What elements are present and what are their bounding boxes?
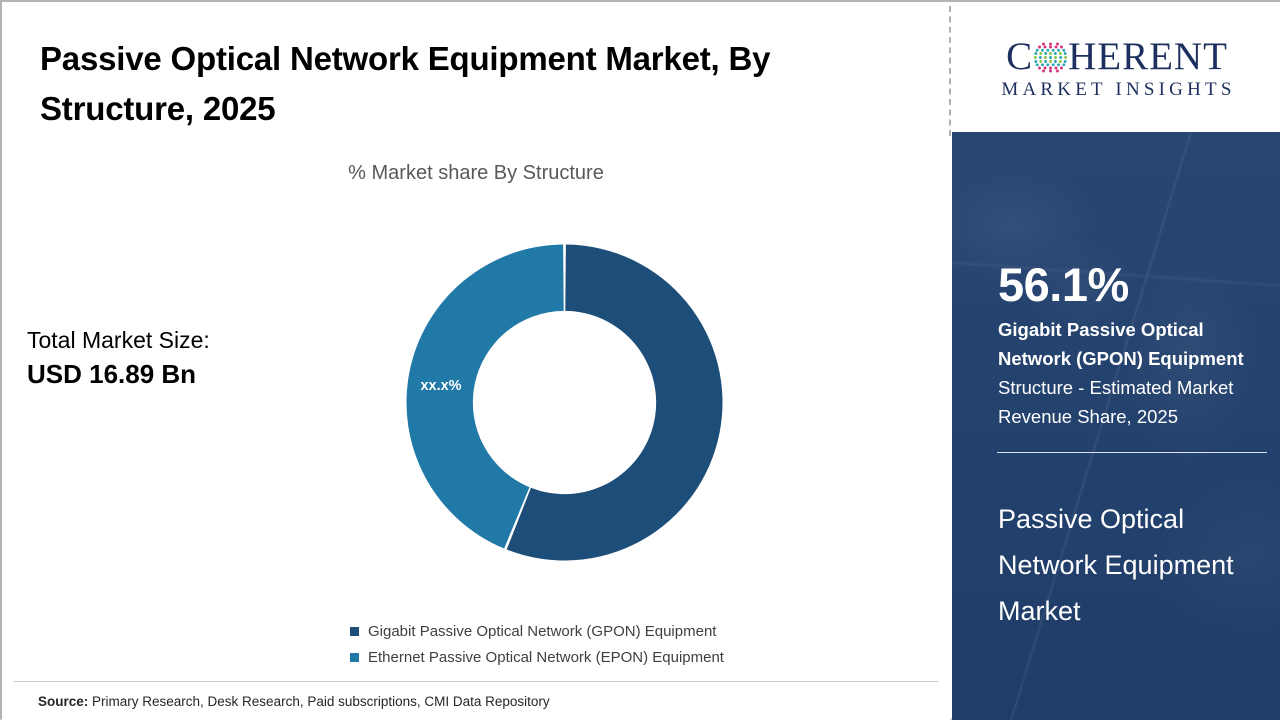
legend-item-epon[interactable]: Ethernet Passive Optical Network (EPON) … xyxy=(350,644,910,670)
logo-name-after: HERENT xyxy=(1068,35,1228,78)
donut-chart: 56.1% xx.x% xyxy=(392,230,737,575)
panel-stat-rest: Structure - Estimated Market Revenue Sha… xyxy=(998,377,1233,427)
globe-dot xyxy=(1049,60,1052,63)
globe-dot xyxy=(1055,67,1058,70)
globe-dot xyxy=(1036,49,1039,52)
globe-dot xyxy=(1034,56,1037,59)
panel-stat-strong: Gigabit Passive Optical Network (GPON) E… xyxy=(998,319,1244,369)
source-text: Primary Research, Desk Research, Paid su… xyxy=(88,694,549,709)
globe-dot xyxy=(1057,49,1060,52)
globe-dot xyxy=(1046,49,1049,52)
slice-label-epon: xx.x% xyxy=(420,378,461,394)
globe-dot xyxy=(1064,52,1067,55)
legend-label-gpon: Gigabit Passive Optical Network (GPON) E… xyxy=(368,623,716,640)
globe-dot xyxy=(1062,49,1065,52)
globe-dot xyxy=(1041,49,1044,52)
logo-wordmark: C HERENT xyxy=(998,36,1235,78)
globe-dot xyxy=(1039,56,1042,59)
globe-dot xyxy=(1049,70,1052,73)
panel-divider xyxy=(997,452,1267,453)
globe-dot xyxy=(1042,43,1045,46)
globe-dot xyxy=(1054,60,1057,63)
globe-dot xyxy=(1064,56,1067,59)
page-title: Passive Optical Network Equipment Market… xyxy=(40,34,910,134)
chart-subtitle: % Market share By Structure xyxy=(2,162,950,185)
globe-dot xyxy=(1054,52,1057,55)
source-divider xyxy=(14,681,938,682)
infographic-page: Passive Optical Network Equipment Market… xyxy=(0,0,1280,720)
globe-dot xyxy=(1059,60,1062,63)
globe-dots-icon xyxy=(1034,41,1067,74)
globe-dot xyxy=(1042,70,1045,73)
legend-item-gpon[interactable]: Gigabit Passive Optical Network (GPON) E… xyxy=(350,618,910,644)
total-market-size-label: Total Market Size: xyxy=(27,324,210,356)
highlight-panel: 56.1% Gigabit Passive Optical Network (G… xyxy=(952,132,1280,720)
legend-label-epon: Ethernet Passive Optical Network (EPON) … xyxy=(368,649,724,666)
globe-dot xyxy=(1044,56,1047,59)
globe-dot xyxy=(1038,46,1041,49)
globe-dot xyxy=(1034,60,1037,63)
globe-dot xyxy=(1044,60,1047,63)
globe-dot xyxy=(1036,63,1039,66)
total-market-size-value: USD 16.89 Bn xyxy=(27,356,210,392)
donut-chart-svg: 56.1% xx.x% xyxy=(392,230,737,575)
globe-dot xyxy=(1056,70,1059,73)
source-line: Source: Primary Research, Desk Research,… xyxy=(38,694,550,709)
globe-dot xyxy=(1052,49,1055,52)
panel-stat-block: 56.1% Gigabit Passive Optical Network (G… xyxy=(952,132,1280,431)
globe-dot xyxy=(1062,63,1065,66)
globe-dot xyxy=(1057,63,1060,66)
globe-dot xyxy=(1054,56,1057,59)
globe-dot xyxy=(1049,56,1052,59)
globe-dot xyxy=(1039,52,1042,55)
globe-dot xyxy=(1049,67,1052,70)
globe-dot xyxy=(1046,63,1049,66)
legend-swatch-gpon xyxy=(350,627,359,636)
donut-slices xyxy=(406,245,722,561)
globe-dot xyxy=(1044,46,1047,49)
globe-dot xyxy=(1044,67,1047,70)
globe-dot xyxy=(1034,52,1037,55)
main-content-area: Passive Optical Network Equipment Market… xyxy=(2,2,950,720)
globe-dot xyxy=(1059,56,1062,59)
logo-name-before: C xyxy=(1006,35,1033,78)
panel-stat-value: 56.1% xyxy=(998,259,1254,311)
globe-dot xyxy=(1049,43,1052,46)
globe-dot xyxy=(1038,67,1041,70)
globe-dot xyxy=(1064,60,1067,63)
globe-dot xyxy=(1059,52,1062,55)
globe-dot xyxy=(1060,46,1063,49)
globe-dot xyxy=(1052,63,1055,66)
globe-dot xyxy=(1056,43,1059,46)
source-prefix: Source: xyxy=(38,694,88,709)
brand-logo: C HERENT MARKET INSIGHTS xyxy=(952,2,1280,132)
globe-dot xyxy=(1039,60,1042,63)
globe-dot xyxy=(1049,46,1052,49)
vertical-dashed-separator xyxy=(949,6,951,136)
slice-label-gpon: 56.1% xyxy=(606,422,647,438)
legend-swatch-epon xyxy=(350,653,359,662)
globe-dot xyxy=(1055,46,1058,49)
globe-dot xyxy=(1044,52,1047,55)
globe-dot xyxy=(1049,52,1052,55)
logo-tagline: MARKET INSIGHTS xyxy=(998,78,1235,102)
total-market-size-block: Total Market Size: USD 16.89 Bn xyxy=(27,324,210,392)
globe-dot xyxy=(1041,63,1044,66)
panel-stat-description: Gigabit Passive Optical Network (GPON) E… xyxy=(998,315,1254,431)
chart-legend: Gigabit Passive Optical Network (GPON) E… xyxy=(350,618,910,670)
panel-market-name: Passive Optical Network Equipment Market xyxy=(998,496,1248,634)
globe-dot xyxy=(1060,67,1063,70)
